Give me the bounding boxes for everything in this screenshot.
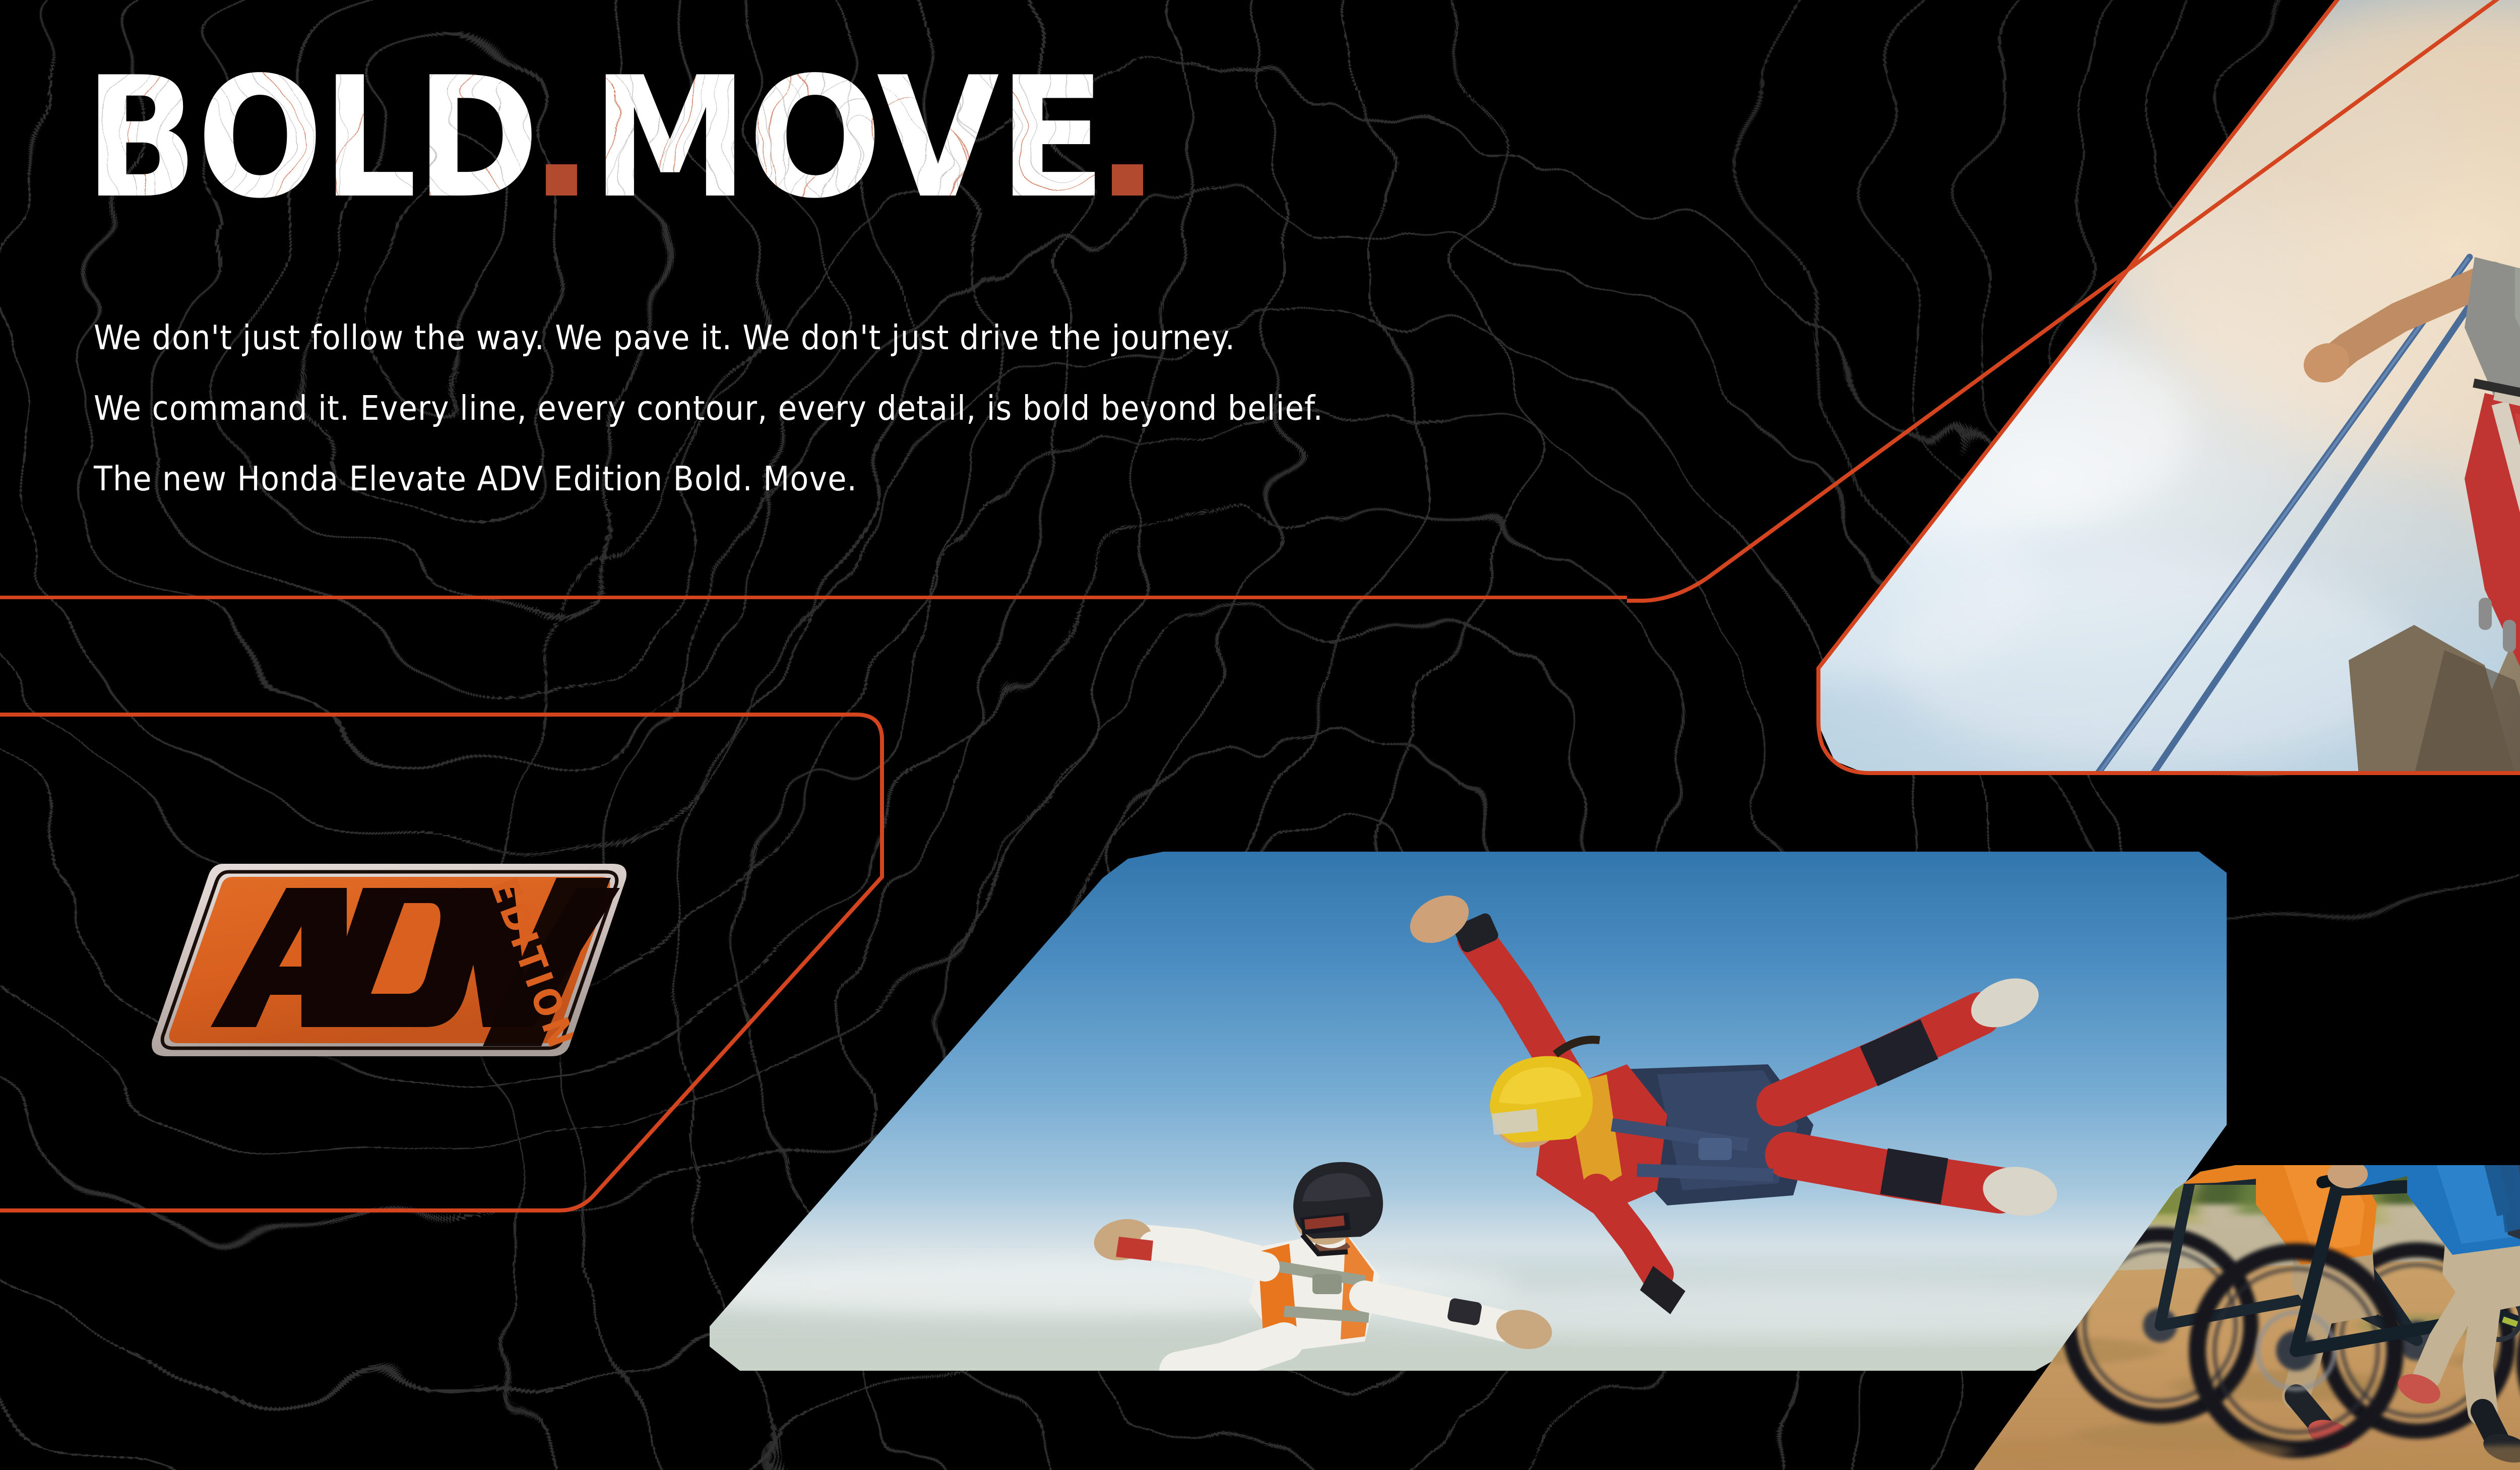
body-copy-line-3: The new Honda Elevate ADV Edition Bold. …: [94, 443, 1833, 514]
page-title: BOLD BOLD MOVE BOLD MOVE BOL: [85, 60, 1244, 227]
adv-edition-badge: EDITION ADV: [135, 850, 639, 1066]
headline-word-move: MOVE: [591, 41, 1105, 235]
body-copy: We don't just follow the way. We pave it…: [94, 302, 1833, 514]
svg-text:MOVE: MOVE: [591, 41, 1105, 235]
orange-horizontal-rule: [0, 596, 1627, 599]
headline-dot-one: [546, 164, 577, 196]
body-copy-line-1: We don't just follow the way. We pave it…: [94, 302, 1833, 373]
body-copy-line-2: We command it. Every line, every contour…: [94, 373, 1833, 443]
